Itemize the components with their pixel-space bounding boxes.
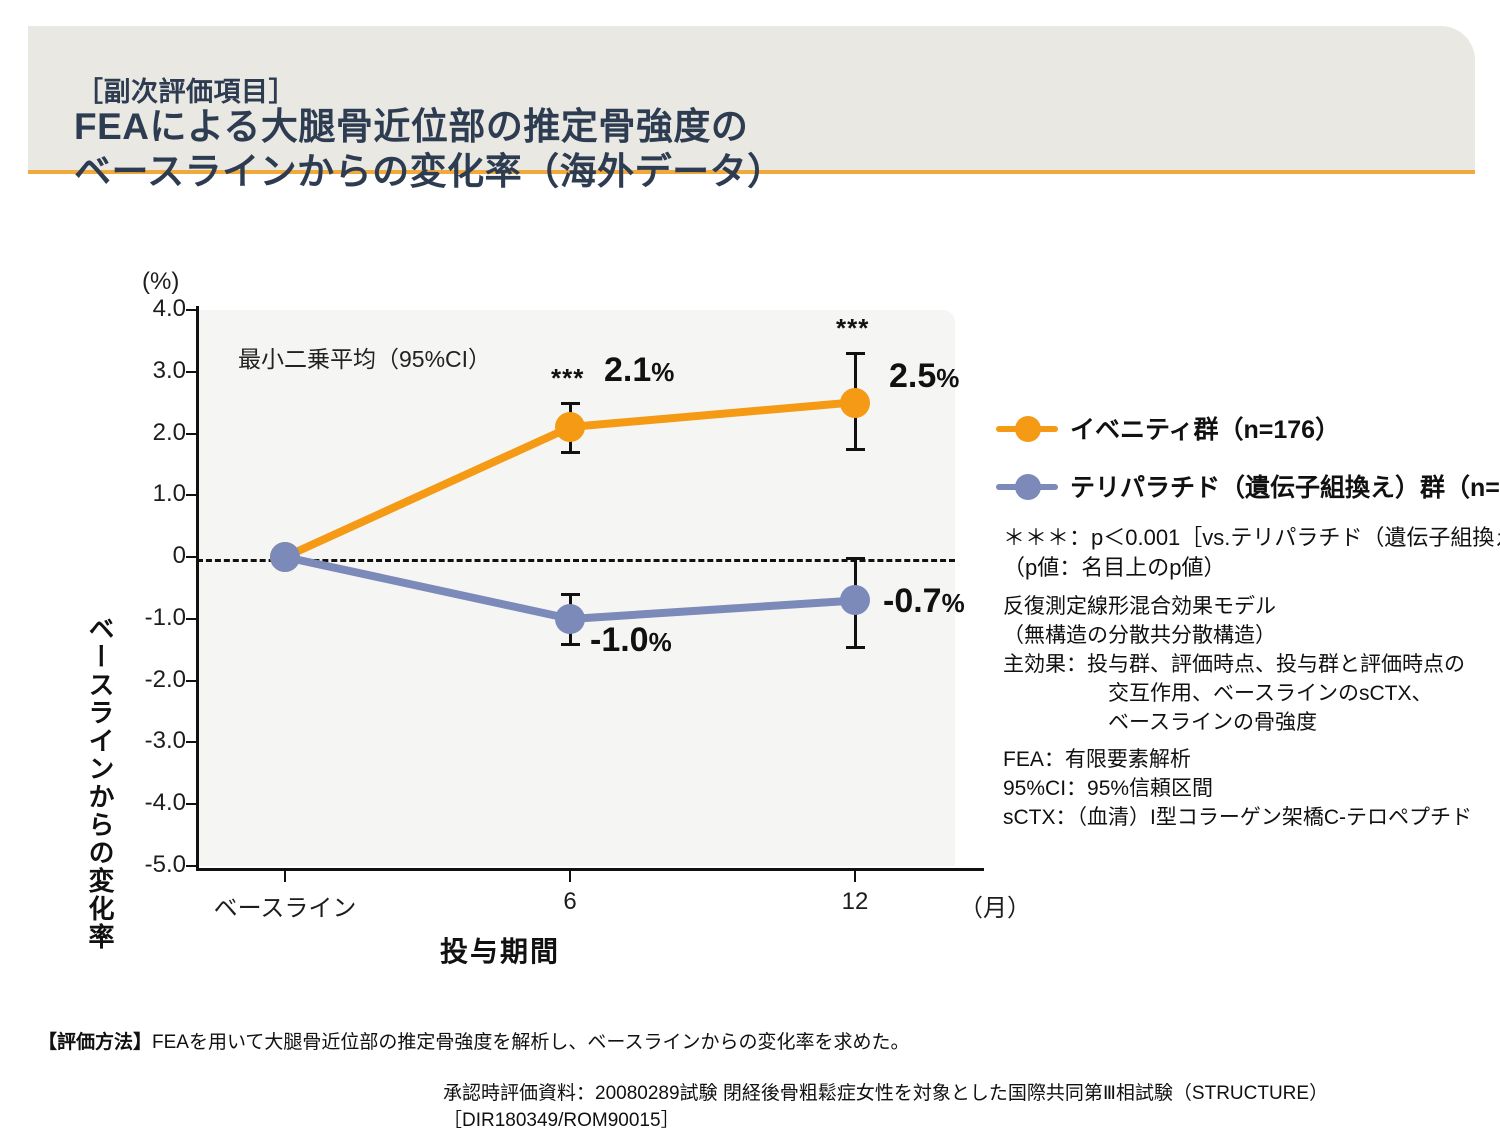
- footer-method-label: 【評価方法】: [38, 1032, 152, 1053]
- note-model: 反復測定線形混合効果モデル （無構造の分散共分散構造） 主効果：投与群、評価時点…: [1003, 592, 1465, 737]
- note-pvalue: ＊＊＊：p＜0.001［vs.テリパラチド（遺伝子組換え）群］ （p値：名目上の…: [1003, 523, 1500, 583]
- header-band: ［副次評価項目］ FEAによる大腿骨近位部の推定骨強度の ベースラインからの変化…: [28, 26, 1475, 174]
- data-point-label: 2.5%: [889, 357, 959, 396]
- y-tick: [186, 865, 197, 867]
- significance-marker: ***: [551, 363, 584, 394]
- error-bar-cap: [846, 646, 865, 649]
- legend-item-1: テリパラチド（遺伝子組換え）群（n=178）: [996, 468, 1496, 504]
- y-tick-label: 2.0: [126, 419, 186, 447]
- page-title-line-2: ベースラインからの変化率（海外データ）: [74, 149, 785, 194]
- y-axis-line: [196, 306, 199, 870]
- data-point: [555, 604, 585, 634]
- error-bar-cap: [561, 402, 580, 405]
- footer-source: 承認時評価資料：20080289試験 閉経後骨粗鬆症女性を対象とした国際共同第Ⅲ…: [443, 1078, 1500, 1132]
- data-point-label: 2.1%: [604, 351, 674, 390]
- data-point: [270, 542, 300, 572]
- legend-marker-icon: [996, 473, 1058, 499]
- data-point-label: -0.7%: [883, 582, 965, 621]
- y-tick: [186, 741, 197, 743]
- x-tick-label: ベースライン: [175, 888, 395, 923]
- error-bar-cap: [561, 451, 580, 454]
- legend: イベニティ群（n=176）テリパラチド（遺伝子組換え）群（n=178）: [996, 410, 1496, 526]
- y-tick-label: 1.0: [126, 480, 186, 508]
- data-point-label: -1.0%: [590, 621, 672, 660]
- x-tick-label: 12: [745, 888, 965, 916]
- footer-method: 【評価方法】FEAを用いて大腿骨近位部の推定骨強度を解析し、ベースラインからの変…: [38, 1027, 909, 1054]
- page-title: FEAによる大腿骨近位部の推定骨強度の ベースラインからの変化率（海外データ）: [74, 104, 785, 194]
- x-axis-unit-label: （月）: [935, 888, 1055, 923]
- x-axis-title: 投与期間: [0, 930, 1000, 970]
- legend-item-0: イベニティ群（n=176）: [996, 410, 1496, 446]
- y-tick-label: 3.0: [126, 357, 186, 385]
- error-bar-cap: [846, 352, 865, 355]
- footer-method-text: FEAを用いて大腿骨近位部の推定骨強度を解析し、ベースラインからの変化率を求めた…: [152, 1032, 909, 1053]
- data-point: [840, 388, 870, 418]
- y-tick: [186, 556, 197, 558]
- y-tick-label: 0: [126, 542, 186, 570]
- plot-annotation: 最小二乗平均（95%CI）: [238, 340, 491, 374]
- y-tick: [186, 680, 197, 682]
- y-tick-label: -4.0: [126, 789, 186, 817]
- y-tick-label: -2.0: [126, 666, 186, 694]
- x-tick: [854, 871, 856, 882]
- x-tick-label: 6: [460, 888, 680, 916]
- error-bar-cap: [561, 593, 580, 596]
- y-tick-label: -1.0: [126, 604, 186, 632]
- page-title-line-1: FEAによる大腿骨近位部の推定骨強度の: [74, 104, 785, 149]
- note-abbreviations: FEA：有限要素解析 95%CI：95%信頼区間 sCTX：（血清）I型コラーゲ…: [1003, 745, 1472, 832]
- y-tick: [186, 494, 197, 496]
- y-tick-label: -3.0: [126, 727, 186, 755]
- error-bar-cap: [846, 448, 865, 451]
- y-tick: [186, 618, 197, 620]
- error-bar-cap: [561, 643, 580, 646]
- legend-marker-icon: [996, 415, 1058, 441]
- y-tick: [186, 433, 197, 435]
- legend-item-label: テリパラチド（遺伝子組換え）群（n=178）: [1070, 468, 1500, 504]
- y-tick-label: -5.0: [126, 851, 186, 879]
- y-tick: [186, 371, 197, 373]
- y-axis-title: ベースラインからの変化率: [82, 615, 118, 951]
- error-bar-cap: [846, 557, 865, 560]
- y-tick: [186, 309, 197, 311]
- legend-item-label: イベニティ群（n=176）: [1070, 410, 1340, 446]
- y-tick-label: 4.0: [126, 295, 186, 323]
- significance-marker: ***: [836, 313, 869, 344]
- y-tick: [186, 803, 197, 805]
- x-axis-line: [196, 868, 984, 871]
- y-axis-unit-label: (%): [142, 268, 179, 296]
- x-tick: [569, 871, 571, 882]
- x-tick: [284, 871, 286, 882]
